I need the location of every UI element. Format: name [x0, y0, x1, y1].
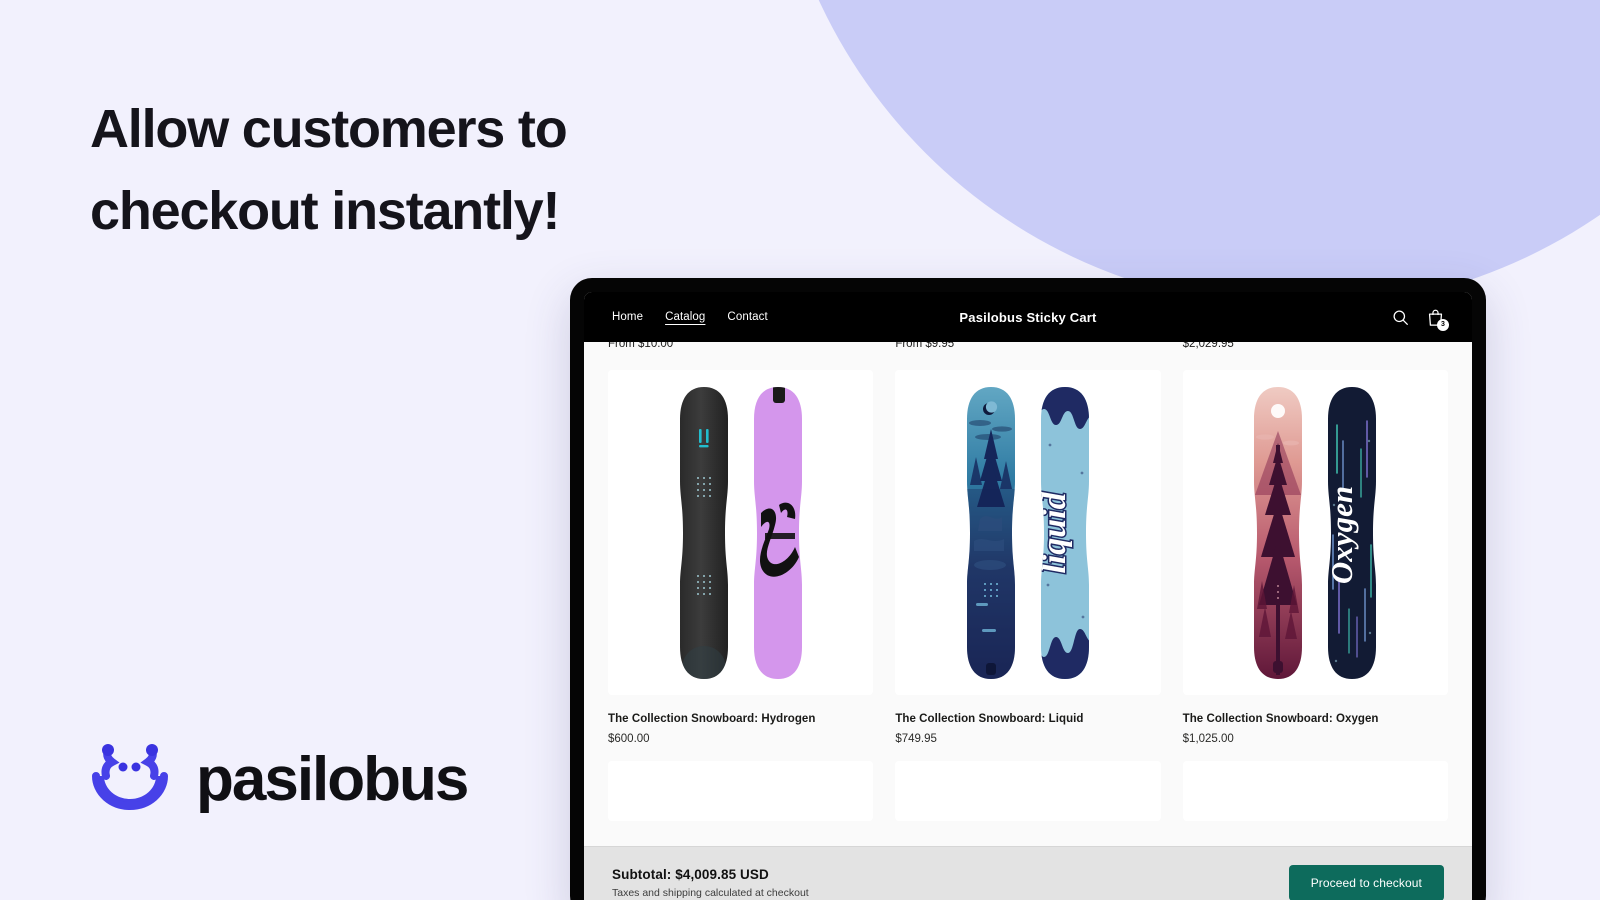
product-title: The Collection Snowboard: Liquid [895, 713, 1160, 725]
cut-price-3: $2,029.95 [1183, 342, 1448, 351]
product-price: $1,025.00 [1183, 733, 1448, 745]
next-product-row [608, 761, 1448, 821]
previous-row-prices: From $10.00 From $9.95 $2,029.95 [608, 342, 1448, 356]
product-grid: The Collection Snowboard: Hydrogen $600.… [608, 370, 1448, 745]
product-price: $600.00 [608, 733, 873, 745]
store-header: Home Catalog Contact Pasilobus Sticky Ca… [584, 292, 1472, 342]
headline-line-1: Allow customers to [90, 88, 730, 170]
snowboard-liquid-image[interactable]: liquid [895, 370, 1160, 695]
board-oxygen-navy: Oxygen [1323, 385, 1381, 681]
cart-count-badge: 3 [1437, 319, 1449, 331]
background-decoration-circle [770, 0, 1600, 308]
headline-line-2: checkout instantly! [90, 170, 730, 252]
product-card-oxygen[interactable]: Oxygen The Collection Snowboard: Oxygen … [1183, 370, 1448, 745]
subtotal-block: Subtotal: $4,009.85 USD Taxes and shippi… [612, 867, 809, 899]
tablet-device-frame: Home Catalog Contact Pasilobus Sticky Ca… [570, 278, 1486, 900]
proceed-to-checkout-button[interactable]: Proceed to checkout [1289, 865, 1444, 900]
cut-price-2: From $9.95 [895, 342, 1160, 351]
product-card-placeholder[interactable] [1183, 761, 1448, 821]
product-card-placeholder[interactable] [895, 761, 1160, 821]
header-actions: 3 [1392, 308, 1444, 327]
cut-price-1: From $10.00 [608, 342, 873, 351]
product-card-placeholder[interactable] [608, 761, 873, 821]
pasilobus-mascot-icon [86, 742, 174, 818]
board-hydrogen-dark [675, 385, 733, 681]
board-liquid-forest [962, 385, 1020, 681]
product-catalog: From $10.00 From $9.95 $2,029.95 [584, 342, 1472, 846]
cart-button[interactable]: 3 [1427, 308, 1444, 327]
svg-text:Oxygen: Oxygen [1324, 485, 1359, 583]
nav-link-home[interactable]: Home [612, 311, 643, 323]
board-oxygen-pink [1249, 385, 1307, 681]
product-card-liquid[interactable]: liquid The Collection Snowboard: Liquid … [895, 370, 1160, 745]
board-hydrogen-purple [749, 385, 807, 681]
store-navigation: Home Catalog Contact [612, 311, 768, 323]
nav-link-contact[interactable]: Contact [727, 311, 767, 323]
brand-wordmark: pasilobus [196, 749, 467, 811]
tax-shipping-note: Taxes and shipping calculated at checkou… [612, 887, 809, 899]
product-card-hydrogen[interactable]: The Collection Snowboard: Hydrogen $600.… [608, 370, 873, 745]
nav-link-catalog[interactable]: Catalog [665, 311, 705, 323]
svg-text:liquid: liquid [1036, 491, 1073, 573]
snowboard-hydrogen-image[interactable] [608, 370, 873, 695]
subtotal-amount: Subtotal: $4,009.85 USD [612, 867, 809, 882]
search-icon [1392, 309, 1409, 326]
page-title: Allow customers to checkout instantly! [90, 88, 730, 252]
product-title: The Collection Snowboard: Oxygen [1183, 713, 1448, 725]
board-liquid-wordmark: liquid [1036, 385, 1094, 681]
tablet-screen: Home Catalog Contact Pasilobus Sticky Ca… [584, 292, 1472, 900]
search-button[interactable] [1392, 309, 1409, 326]
product-title: The Collection Snowboard: Hydrogen [608, 713, 873, 725]
product-price: $749.95 [895, 733, 1160, 745]
sticky-cart-bar: Subtotal: $4,009.85 USD Taxes and shippi… [584, 846, 1472, 900]
snowboard-oxygen-image[interactable]: Oxygen [1183, 370, 1448, 695]
brand-logo: pasilobus [86, 742, 467, 818]
